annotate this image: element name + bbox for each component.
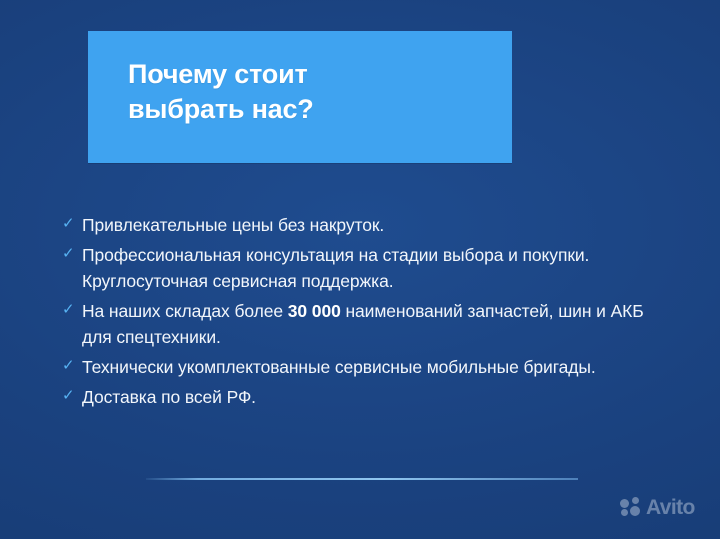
- list-item: ✓Технически укомплектованные сервисные м…: [62, 354, 662, 381]
- avito-watermark: Avito: [620, 497, 695, 518]
- slide-canvas: Почему стоит выбрать нас? ✓Привлекательн…: [0, 0, 720, 539]
- avito-dots-logo-icon: [620, 497, 641, 518]
- page-title: Почему стоит выбрать нас?: [128, 57, 498, 127]
- list-item: ✓Доставка по всей РФ.: [62, 384, 662, 411]
- list-item: ✓Профессиональная консультация на стадии…: [62, 242, 662, 295]
- list-item-label: На наших складах более 30 000 наименован…: [82, 298, 662, 351]
- check-icon: ✓: [62, 302, 82, 317]
- check-icon: ✓: [62, 388, 82, 403]
- divider-line: [146, 478, 578, 480]
- list-item-label: Технически укомплектованные сервисные мо…: [82, 354, 662, 381]
- list-item: ✓На наших складах более 30 000 наименова…: [62, 298, 662, 351]
- check-icon: ✓: [62, 216, 82, 231]
- check-icon: ✓: [62, 246, 82, 261]
- highlighted-number: 30 000: [288, 301, 341, 321]
- benefits-list: ✓Привлекательные цены без накруток.✓Проф…: [62, 212, 662, 413]
- list-item: ✓Привлекательные цены без накруток.: [62, 212, 662, 239]
- title-banner: Почему стоит выбрать нас?: [88, 31, 512, 163]
- list-item-label: Доставка по всей РФ.: [82, 384, 662, 411]
- avito-wordmark: Avito: [646, 497, 695, 518]
- list-item-label: Привлекательные цены без накруток.: [82, 212, 662, 239]
- list-item-label: Профессиональная консультация на стадии …: [82, 242, 662, 295]
- check-icon: ✓: [62, 358, 82, 373]
